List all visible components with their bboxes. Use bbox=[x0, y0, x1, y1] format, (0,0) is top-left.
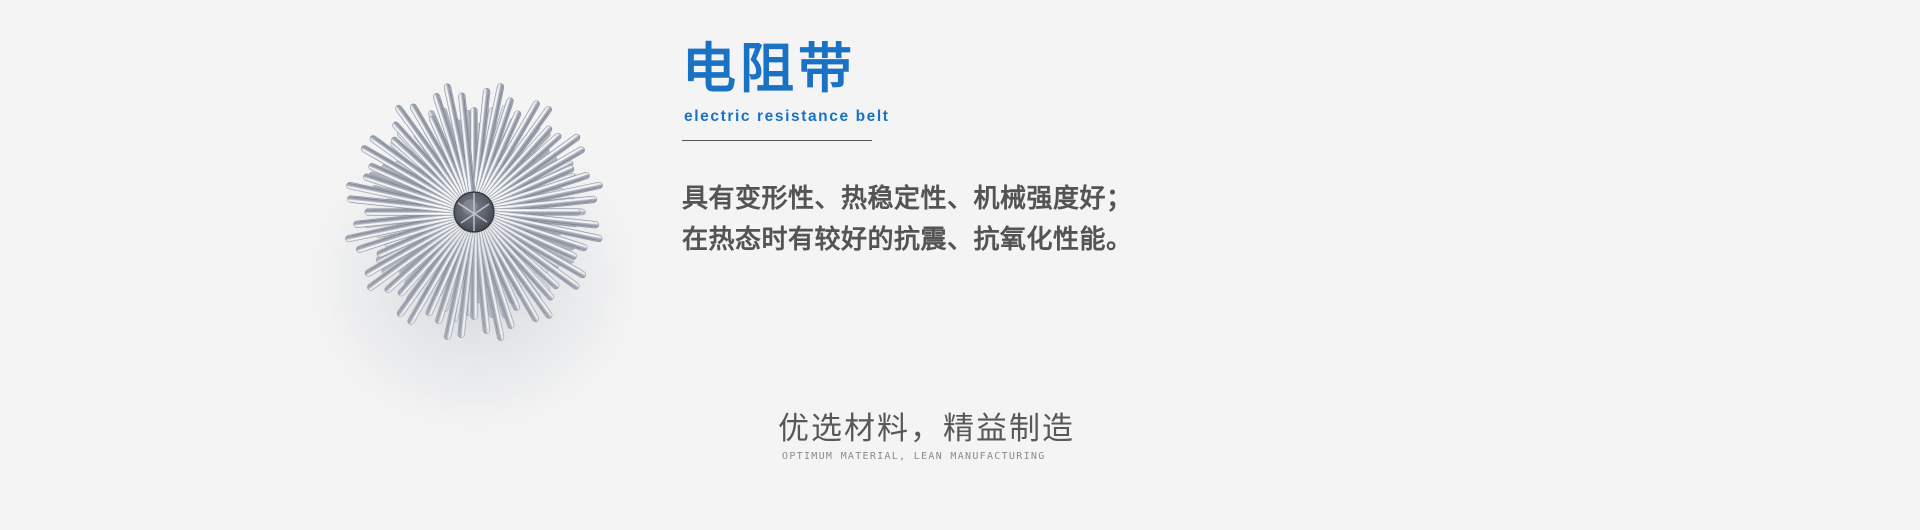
page-title: 电阻带 bbox=[682, 40, 1462, 98]
title-divider bbox=[682, 140, 872, 141]
page-subtitle: electric resistance belt bbox=[684, 108, 1462, 126]
description-line-2: 在热态时有较好的抗震、抗氧化性能。 bbox=[682, 220, 1462, 261]
copy-block: 电阻带 electric resistance belt 具有变形性、热稳定性、… bbox=[682, 40, 1462, 261]
description-line-1: 具有变形性、热稳定性、机械强度好； bbox=[682, 179, 1462, 220]
slogan-chinese: 优选材料，精益制造 bbox=[778, 412, 1338, 446]
slogan-block: 优选材料，精益制造 OPTIMUM MATERIAL, LEAN MANUFAC… bbox=[778, 412, 1338, 462]
product-banner: 电阻带 electric resistance belt 具有变形性、热稳定性、… bbox=[0, 0, 1920, 530]
product-image bbox=[252, 30, 692, 450]
description-text: 具有变形性、热稳定性、机械强度好； 在热态时有较好的抗震、抗氧化性能。 bbox=[682, 179, 1462, 261]
slogan-english: OPTIMUM MATERIAL, LEAN MANUFACTURING bbox=[782, 451, 1338, 462]
